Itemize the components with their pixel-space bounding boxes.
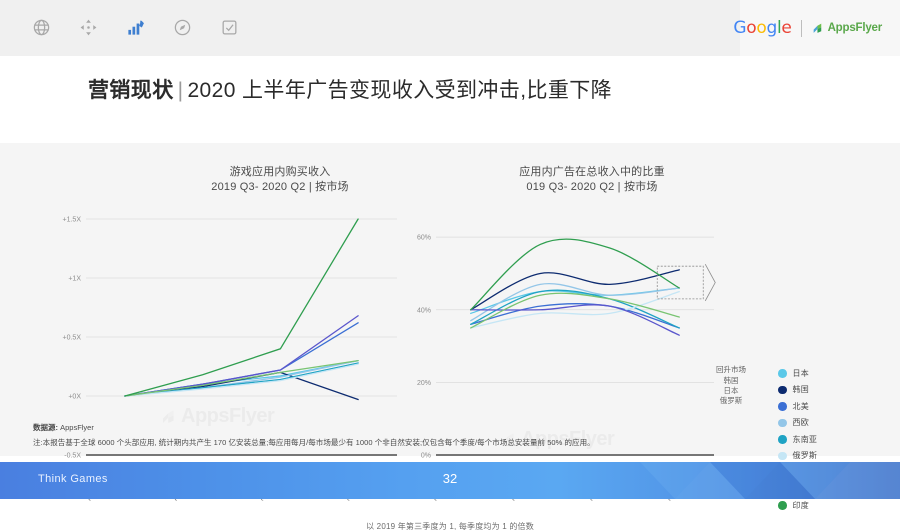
page-title-rest: 2020 上半年广告变现收入受到冲击,比重下降 [187, 79, 612, 102]
appsflyer-logo: AppsFlyer [811, 22, 882, 35]
rebound-callout-item: 俄罗斯 [716, 396, 746, 406]
series-line [471, 239, 680, 310]
annotation-arrow-icon [705, 264, 715, 301]
legend-item[interactable]: 印度 [778, 497, 834, 514]
y-axis-tick-label: +0.5X [63, 335, 82, 342]
page-title: 营销现状|2020 上半年广告变现收入受到冲击,比重下降 [88, 74, 612, 104]
page-number: 32 [0, 471, 900, 486]
right-chart-title-line1: 应用内广告在总收入中的比重 [432, 165, 752, 180]
legend-item-label: 韩国 [793, 384, 809, 395]
legend-color-swatch [778, 386, 787, 395]
checklist-icon[interactable] [216, 14, 242, 40]
y-axis-tick-label: 0% [421, 453, 431, 460]
source-value: AppsFlyer [60, 423, 94, 432]
legend-color-swatch [778, 369, 787, 378]
content-card: 游戏应用内购买收入 2019 Q3- 2020 Q2 | 按市场 应用内广告在总… [0, 143, 900, 456]
chart-footnote: 以 2019 年第三季度为 1, 每季度均为 1 的倍数 [0, 521, 900, 532]
bar-chart-icon[interactable] [122, 14, 148, 40]
legend-item-label: 北美 [793, 401, 809, 412]
legend-item[interactable]: 西欧 [778, 415, 834, 432]
legend-item-label: 西欧 [793, 417, 809, 428]
source-label: 数据源: [33, 423, 58, 432]
rebound-callout-items: 韩国日本俄罗斯 [716, 376, 746, 406]
annotation-highlight-box [657, 266, 703, 299]
y-axis-tick-label: +0X [68, 394, 81, 401]
globe-icon[interactable] [28, 14, 54, 40]
legend-color-swatch [778, 501, 787, 510]
source-line: 数据源: AppsFlyer [33, 422, 595, 433]
right-chart-title: 应用内广告在总收入中的比重 019 Q3- 2020 Q2 | 按市场 [432, 165, 752, 195]
legend-item[interactable]: 日本 [778, 365, 834, 382]
y-axis-tick-label: -0.5X [64, 453, 81, 460]
legend-color-swatch [778, 435, 787, 444]
rebound-callout-item: 日本 [716, 386, 746, 396]
appsflyer-wordmark: AppsFlyer [828, 22, 882, 34]
y-axis-tick-label: 40% [417, 307, 431, 314]
series-line [471, 293, 680, 328]
series-line [125, 219, 358, 396]
series-line [125, 361, 358, 396]
left-chart-title-line2: 2019 Q3- 2020 Q2 | 按市场 [120, 180, 440, 195]
page-title-separator: | [174, 79, 188, 102]
compass-icon[interactable] [169, 14, 195, 40]
source-note: 注:本报告基于全球 6000 个头部应用, 统计期内共产生 170 亿安装总量;… [33, 437, 595, 448]
y-axis-tick-label: +1.5X [63, 217, 82, 224]
y-axis-tick-label: 20% [417, 380, 431, 387]
brand-divider [801, 20, 802, 37]
google-logo: Google [733, 18, 791, 38]
appsflyer-mark-icon [811, 22, 825, 35]
toolbar-icon-group [28, 14, 242, 40]
rebound-callout: 回升市场 韩国日本俄罗斯 [716, 364, 746, 406]
page-title-lead: 营销现状 [88, 79, 174, 102]
legend-color-swatch [778, 402, 787, 411]
legend-item-label: 东南亚 [793, 434, 818, 445]
y-axis-tick-label: +1X [68, 276, 81, 283]
right-chart-title-line2: 019 Q3- 2020 Q2 | 按市场 [432, 180, 752, 195]
top-toolbar: Google AppsFlyer [0, 0, 900, 56]
legend-item-label: 俄罗斯 [793, 450, 818, 461]
page-footer: Think Games 32 [0, 462, 900, 499]
legend-item[interactable]: 北美 [778, 398, 834, 415]
y-axis-tick-label: 60% [417, 235, 431, 242]
left-chart-title: 游戏应用内购买收入 2019 Q3- 2020 Q2 | 按市场 [120, 165, 440, 195]
legend-item-label: 日本 [793, 368, 809, 379]
legend-color-swatch [778, 452, 787, 461]
legend-color-swatch [778, 419, 787, 428]
legend-item[interactable]: 东南亚 [778, 431, 834, 448]
source-block: 数据源: AppsFlyer 注:本报告基于全球 6000 个头部应用, 统计期… [33, 422, 595, 448]
legend-item-label: 印度 [793, 500, 809, 511]
rebound-callout-item: 韩国 [716, 376, 746, 386]
legend-item[interactable]: 韩国 [778, 382, 834, 399]
rebound-callout-title: 回升市场 [716, 364, 746, 375]
left-chart-title-line1: 游戏应用内购买收入 [120, 165, 440, 180]
series-line [471, 290, 680, 328]
brand-lockup: Google AppsFlyer [733, 18, 882, 38]
move-icon[interactable] [75, 14, 101, 40]
